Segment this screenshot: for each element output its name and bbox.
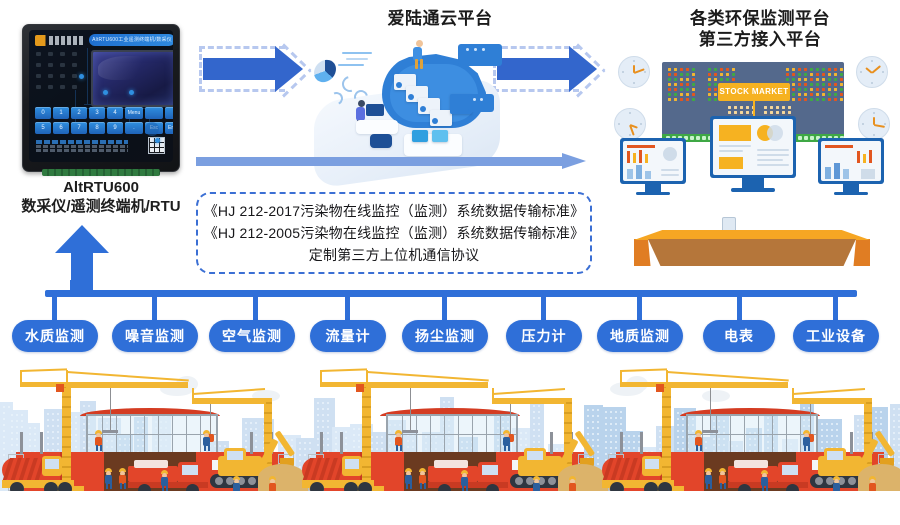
flow-arrow-device-to-cloud [203, 40, 323, 100]
construction-worker [394, 430, 404, 450]
construction-site-illustration [0, 368, 900, 525]
sensor-pill-0[interactable]: 水质监测 [12, 320, 98, 352]
wall-clock-icon [618, 56, 650, 88]
construction-worker [704, 468, 714, 488]
monitor-platform-title: 各类环保监测平台 第三方接入平台 [620, 8, 900, 50]
stock-market-banner: STOCK MARKET [718, 83, 790, 101]
construction-worker [160, 470, 170, 490]
construction-worker [104, 468, 114, 488]
main-dashboard-monitor [710, 116, 796, 178]
dirt-pile [876, 472, 900, 492]
construction-worker [404, 468, 414, 488]
construction-worker [94, 430, 104, 450]
wall-clock-icon [856, 56, 888, 88]
sensor-pill-2[interactable]: 空气监测 [209, 320, 295, 352]
device-faceplate: AltRTU600工业遥测终端机/数采仪 [29, 30, 173, 162]
device-company-text [36, 140, 128, 154]
desktop-monitor-icon [366, 104, 384, 116]
protocol-standards-box: 《HJ 212-2017污染物在线监控（监测）系统数据传输标准》 《HJ 212… [196, 192, 592, 274]
device-io-leds [36, 52, 84, 102]
device-model-badge: AltRTU600工业遥测终端机/数采仪 [89, 34, 173, 46]
construction-worker [202, 430, 212, 450]
pie-chart-icon [314, 58, 336, 84]
cloud-platform-title: 爱陆通云平台 [300, 8, 580, 29]
right-dashboard-monitor [818, 138, 884, 184]
wall-clock-icon [858, 108, 890, 140]
protocol-line-1: 《HJ 212-2017污染物在线监控（监测）系统数据传输标准》 [204, 200, 585, 222]
sensor-pill-7[interactable]: 电表 [703, 320, 775, 352]
sensor-pill-4[interactable]: 扬尘监测 [402, 320, 488, 352]
construction-worker [760, 470, 770, 490]
cement-mixer-truck [302, 454, 384, 496]
flow-arrow-direct-to-platform [196, 153, 586, 169]
device-lcd-screen [91, 50, 173, 107]
cement-mixer-truck [602, 454, 684, 496]
protocol-line-2: 《HJ 212-2005污染物在线监控（监测）系统数据传输标准》 [204, 222, 585, 244]
left-dashboard-monitor [620, 138, 686, 184]
device-terminal-block [42, 169, 160, 176]
sensor-pill-1[interactable]: 噪音监测 [112, 320, 198, 352]
construction-worker [502, 430, 512, 450]
chat-bubble-icon [458, 44, 502, 66]
construction-worker [802, 430, 812, 450]
diagram-canvas: 爱陆通云平台 各类环保监测平台 第三方接入平台 AltRTU600工业遥测终端机… [0, 0, 900, 525]
cement-mixer-truck [2, 454, 84, 496]
sensor-pill-8[interactable]: 工业设备 [793, 320, 879, 352]
sensor-pill-3[interactable]: 流量计 [310, 320, 386, 352]
control-desk [634, 230, 870, 266]
construction-worker [118, 468, 128, 488]
rtu-device-image: AltRTU600工业遥测终端机/数采仪 [22, 24, 180, 172]
construction-worker [718, 468, 728, 488]
flow-arrow-cloud-to-platform [497, 40, 617, 100]
wall-clock-icon [614, 108, 646, 140]
construction-worker [418, 468, 428, 488]
sensor-pill-5[interactable]: 压力计 [506, 320, 582, 352]
message-icon [468, 94, 494, 112]
construction-worker [694, 430, 704, 450]
device-brand-logo [35, 35, 83, 46]
sensor-pill-6[interactable]: 地质监测 [597, 320, 683, 352]
protocol-line-3: 定制第三方上位机通信协议 [309, 244, 479, 266]
construction-worker [460, 470, 470, 490]
device-caption: AltRTU600 数采仪/遥测终端机/RTU [6, 178, 196, 216]
monitoring-platform-illustration: STOCK MARKET [606, 52, 898, 267]
